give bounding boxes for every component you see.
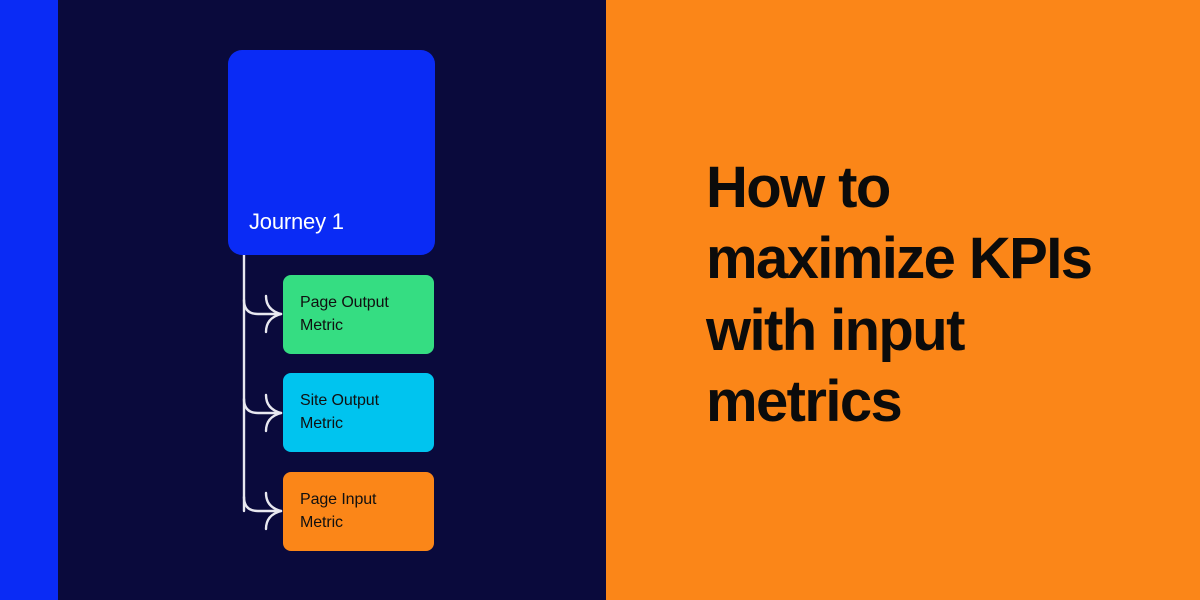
node-page-input-metric[interactable]: Page Input Metric	[283, 472, 434, 551]
node-journey-1-label: Journey 1	[228, 209, 344, 255]
arrowhead-3-upper	[266, 493, 281, 511]
arrowhead-2-lower	[266, 413, 281, 431]
arrowhead-1-upper	[266, 296, 281, 314]
slide-canvas: Journey 1 Page Output Metric Site Output…	[0, 0, 1200, 600]
arrowhead-3-lower	[266, 511, 281, 529]
node-site-output-metric-label: Site Output Metric	[283, 390, 379, 435]
branch-line-1	[244, 300, 281, 314]
node-journey-1[interactable]: Journey 1	[228, 50, 435, 255]
arrowhead-1-lower	[266, 314, 281, 332]
page-title: How to maximize KPIs with input metrics	[706, 152, 1166, 437]
node-page-output-metric-label: Page Output Metric	[283, 292, 389, 337]
branch-line-2	[244, 399, 281, 413]
arrowhead-2-upper	[266, 395, 281, 413]
node-site-output-metric[interactable]: Site Output Metric	[283, 373, 434, 452]
node-page-input-metric-label: Page Input Metric	[283, 489, 376, 534]
journey-tree-diagram: Journey 1 Page Output Metric Site Output…	[0, 0, 606, 600]
headline-block: How to maximize KPIs with input metrics	[706, 152, 1166, 437]
branch-line-3	[244, 497, 281, 511]
node-page-output-metric[interactable]: Page Output Metric	[283, 275, 434, 354]
